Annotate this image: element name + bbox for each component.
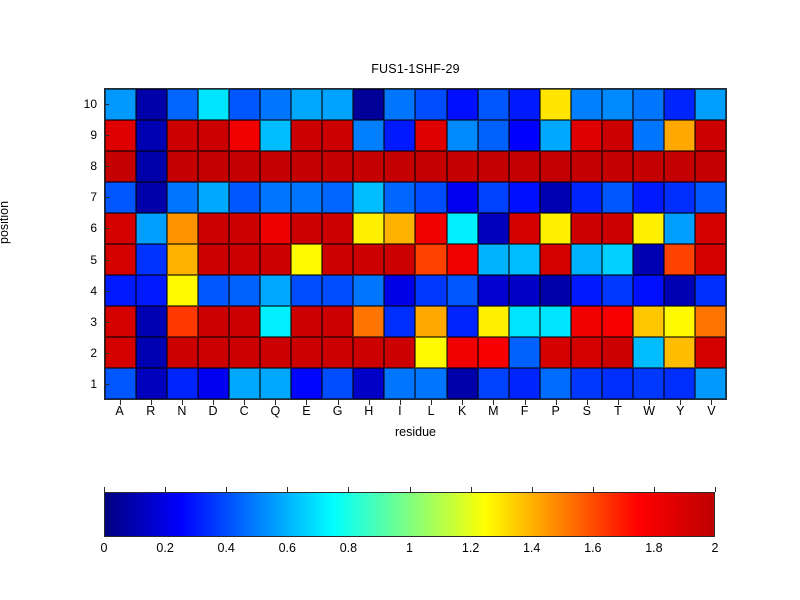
heatmap-cell — [695, 151, 726, 182]
heatmap-cell — [447, 182, 478, 213]
x-tick-mark — [587, 400, 588, 405]
heatmap-cell — [602, 275, 633, 306]
heatmap-cell — [353, 337, 384, 368]
heatmap-cell — [353, 182, 384, 213]
heatmap-cell — [415, 182, 446, 213]
heatmap-cell — [322, 120, 353, 151]
heatmap-cell — [509, 213, 540, 244]
heatmap-cell — [571, 182, 602, 213]
colorbar-tick-mark — [348, 487, 349, 492]
heatmap-cell — [105, 275, 136, 306]
heatmap-cell — [384, 213, 415, 244]
heatmap-cell — [229, 306, 260, 337]
heatmap-cell — [384, 306, 415, 337]
heatmap-cell — [664, 368, 695, 399]
y-tick-label: 6 — [57, 221, 97, 235]
heatmap-cell — [260, 213, 291, 244]
heatmap-cell — [322, 337, 353, 368]
heatmap-cell — [695, 89, 726, 120]
heatmap-cell — [198, 368, 229, 399]
heatmap-cell — [602, 151, 633, 182]
colorbar-tick-label: 0.2 — [140, 541, 190, 555]
heatmap-plot-area — [104, 88, 727, 400]
heatmap-cell — [415, 337, 446, 368]
heatmap-cell — [322, 182, 353, 213]
colorbar-tick-mark — [532, 487, 533, 492]
heatmap-cell — [167, 89, 198, 120]
heatmap-cell — [571, 120, 602, 151]
heatmap-cell — [602, 89, 633, 120]
heatmap-cell-grid — [105, 89, 726, 399]
heatmap-cell — [105, 368, 136, 399]
y-tick-mark — [104, 104, 109, 105]
heatmap-cell — [229, 89, 260, 120]
heatmap-cell — [353, 368, 384, 399]
heatmap-cell — [291, 306, 322, 337]
heatmap-cell — [353, 213, 384, 244]
heatmap-cell — [540, 151, 571, 182]
heatmap-cell — [322, 89, 353, 120]
heatmap-cell — [478, 151, 509, 182]
heatmap-cell — [415, 151, 446, 182]
heatmap-cell — [198, 151, 229, 182]
heatmap-cell — [198, 89, 229, 120]
heatmap-cell — [291, 213, 322, 244]
heatmap-cell — [167, 182, 198, 213]
heatmap-cell — [291, 89, 322, 120]
heatmap-cell — [664, 275, 695, 306]
heatmap-cell — [105, 306, 136, 337]
heatmap-cell — [198, 244, 229, 275]
heatmap-cell — [540, 306, 571, 337]
colorbar-tick-mark — [715, 487, 716, 492]
heatmap-cell — [260, 151, 291, 182]
colorbar-tick-label: 0.8 — [323, 541, 373, 555]
heatmap-cell — [633, 213, 664, 244]
y-tick-label: 3 — [57, 315, 97, 329]
heatmap-cell — [540, 337, 571, 368]
heatmap-cell — [509, 151, 540, 182]
heatmap-cell — [447, 337, 478, 368]
colorbar-tick-label: 1.8 — [629, 541, 679, 555]
heatmap-cell — [540, 244, 571, 275]
heatmap-cell — [447, 89, 478, 120]
heatmap-cell — [229, 213, 260, 244]
heatmap-cell — [260, 306, 291, 337]
heatmap-cell — [571, 151, 602, 182]
y-tick-mark — [104, 135, 109, 136]
heatmap-cell — [198, 182, 229, 213]
y-axis-label: position — [0, 201, 11, 244]
heatmap-cell — [136, 368, 167, 399]
heatmap-cell — [633, 368, 664, 399]
heatmap-cell — [322, 213, 353, 244]
y-tick-label: 2 — [57, 346, 97, 360]
heatmap-cell — [198, 306, 229, 337]
heatmap-cell — [229, 151, 260, 182]
heatmap-cell — [260, 368, 291, 399]
heatmap-cell — [602, 182, 633, 213]
y-tick-mark — [104, 322, 109, 323]
heatmap-cell — [447, 275, 478, 306]
heatmap-cell — [695, 120, 726, 151]
heatmap-cell — [602, 306, 633, 337]
heatmap-cell — [478, 213, 509, 244]
heatmap-cell — [353, 244, 384, 275]
heatmap-cell — [353, 89, 384, 120]
heatmap-cell — [664, 151, 695, 182]
heatmap-cell — [260, 244, 291, 275]
heatmap-cell — [229, 120, 260, 151]
heatmap-cell — [509, 306, 540, 337]
heatmap-cell — [291, 151, 322, 182]
y-tick-label: 5 — [57, 253, 97, 267]
heatmap-cell — [198, 120, 229, 151]
heatmap-cell — [136, 213, 167, 244]
heatmap-cell — [509, 120, 540, 151]
x-tick-mark — [244, 400, 245, 405]
heatmap-cell — [509, 337, 540, 368]
heatmap-cell — [291, 182, 322, 213]
colorbar-tick-label: 0.6 — [262, 541, 312, 555]
heatmap-cell — [229, 275, 260, 306]
y-tick-label: 9 — [57, 128, 97, 142]
colorbar-tick-label: 0 — [79, 541, 129, 555]
heatmap-cell — [105, 213, 136, 244]
heatmap-cell — [167, 275, 198, 306]
page-title: FUS1-1SHF-29 — [104, 62, 727, 76]
heatmap-cell — [602, 120, 633, 151]
x-tick-mark — [151, 400, 152, 405]
heatmap-cell — [695, 182, 726, 213]
colorbar-tick-mark — [165, 487, 166, 492]
heatmap-cell — [260, 182, 291, 213]
heatmap-cell — [167, 368, 198, 399]
heatmap-cell — [664, 306, 695, 337]
heatmap-cell — [260, 89, 291, 120]
heatmap-cell — [633, 275, 664, 306]
heatmap-cell — [105, 89, 136, 120]
heatmap-cell — [571, 275, 602, 306]
colorbar-gradient — [105, 493, 714, 536]
heatmap-cell — [571, 306, 602, 337]
heatmap-cell — [353, 275, 384, 306]
x-tick-mark — [275, 400, 276, 405]
heatmap-cell — [384, 182, 415, 213]
heatmap-cell — [260, 120, 291, 151]
heatmap-cell — [384, 337, 415, 368]
colorbar-tick-mark — [410, 487, 411, 492]
heatmap-cell — [415, 306, 446, 337]
heatmap-cell — [509, 244, 540, 275]
heatmap-cell — [415, 244, 446, 275]
heatmap-cell — [633, 182, 664, 213]
heatmap-cell — [105, 120, 136, 151]
heatmap-cell — [322, 275, 353, 306]
heatmap-cell — [229, 368, 260, 399]
heatmap-cell — [229, 182, 260, 213]
heatmap-cell — [509, 368, 540, 399]
heatmap-cell — [602, 368, 633, 399]
heatmap-cell — [478, 368, 509, 399]
heatmap-cell — [384, 368, 415, 399]
heatmap-cell — [478, 306, 509, 337]
heatmap-cell — [415, 213, 446, 244]
colorbar-tick-mark — [471, 487, 472, 492]
heatmap-cell — [291, 120, 322, 151]
y-tick-label: 10 — [57, 97, 97, 111]
heatmap-cell — [136, 151, 167, 182]
x-tick-mark — [213, 400, 214, 405]
heatmap-cell — [447, 306, 478, 337]
heatmap-cell — [136, 244, 167, 275]
heatmap-cell — [415, 89, 446, 120]
figure-canvas: FUS1-1SHF-29 position 10987654321 ARNDCQ… — [0, 0, 800, 600]
x-tick-mark — [431, 400, 432, 405]
heatmap-cell — [136, 337, 167, 368]
heatmap-cell — [447, 213, 478, 244]
heatmap-cell — [664, 244, 695, 275]
x-tick-mark — [120, 400, 121, 405]
heatmap-cell — [664, 120, 695, 151]
heatmap-cell — [136, 275, 167, 306]
heatmap-cell — [478, 275, 509, 306]
heatmap-cell — [167, 213, 198, 244]
heatmap-cell — [478, 89, 509, 120]
colorbar-tick-label: 1.6 — [568, 541, 618, 555]
heatmap-cell — [540, 182, 571, 213]
heatmap-cell — [509, 182, 540, 213]
heatmap-cell — [633, 120, 664, 151]
heatmap-cell — [415, 120, 446, 151]
heatmap-cell — [291, 244, 322, 275]
heatmap-cell — [447, 244, 478, 275]
heatmap-cell — [540, 275, 571, 306]
heatmap-cell — [664, 337, 695, 368]
heatmap-cell — [695, 275, 726, 306]
colorbar-tick-mark — [654, 487, 655, 492]
heatmap-cell — [384, 151, 415, 182]
heatmap-cell — [540, 213, 571, 244]
heatmap-cell — [229, 244, 260, 275]
heatmap-cell — [633, 306, 664, 337]
heatmap-cell — [105, 244, 136, 275]
heatmap-cell — [447, 151, 478, 182]
heatmap-cell — [322, 151, 353, 182]
heatmap-cell — [384, 120, 415, 151]
heatmap-cell — [167, 337, 198, 368]
heatmap-cell — [664, 182, 695, 213]
heatmap-cell — [664, 213, 695, 244]
x-tick-mark — [338, 400, 339, 405]
y-tick-mark — [104, 260, 109, 261]
heatmap-cell — [695, 213, 726, 244]
heatmap-cell — [198, 337, 229, 368]
heatmap-cell — [260, 337, 291, 368]
heatmap-cell — [167, 120, 198, 151]
heatmap-cell — [105, 337, 136, 368]
heatmap-cell — [415, 275, 446, 306]
colorbar-tick-mark — [287, 487, 288, 492]
heatmap-cell — [571, 337, 602, 368]
heatmap-cell — [198, 213, 229, 244]
heatmap-cell — [478, 120, 509, 151]
colorbar-tick-mark — [593, 487, 594, 492]
heatmap-cell — [384, 89, 415, 120]
heatmap-cell — [136, 120, 167, 151]
x-tick-mark — [182, 400, 183, 405]
heatmap-cell — [167, 244, 198, 275]
x-tick-mark — [493, 400, 494, 405]
heatmap-cell — [478, 182, 509, 213]
heatmap-cell — [478, 337, 509, 368]
heatmap-cell — [447, 120, 478, 151]
x-tick-mark — [618, 400, 619, 405]
heatmap-cell — [322, 306, 353, 337]
heatmap-cell — [664, 89, 695, 120]
y-tick-mark — [104, 197, 109, 198]
x-tick-mark — [711, 400, 712, 405]
y-tick-label: 7 — [57, 190, 97, 204]
heatmap-cell — [136, 306, 167, 337]
x-tick-mark — [680, 400, 681, 405]
heatmap-cell — [322, 244, 353, 275]
heatmap-cell — [695, 368, 726, 399]
heatmap-cell — [602, 213, 633, 244]
heatmap-cell — [136, 89, 167, 120]
y-tick-mark — [104, 166, 109, 167]
heatmap-cell — [384, 244, 415, 275]
heatmap-cell — [695, 306, 726, 337]
heatmap-cell — [260, 275, 291, 306]
x-tick-mark — [306, 400, 307, 405]
x-tick-mark — [400, 400, 401, 405]
heatmap-cell — [571, 368, 602, 399]
colorbar-tick-label: 1 — [385, 541, 435, 555]
y-tick-label: 4 — [57, 284, 97, 298]
colorbar-tick-mark — [226, 487, 227, 492]
y-tick-label: 8 — [57, 159, 97, 173]
x-tick-mark — [369, 400, 370, 405]
y-tick-mark — [104, 384, 109, 385]
colorbar-tick-mark — [104, 487, 105, 492]
heatmap-cell — [353, 306, 384, 337]
heatmap-cell — [571, 89, 602, 120]
heatmap-cell — [633, 151, 664, 182]
heatmap-cell — [633, 89, 664, 120]
heatmap-cell — [447, 368, 478, 399]
x-tick-mark — [556, 400, 557, 405]
x-tick-label: V — [691, 404, 731, 418]
heatmap-cell — [105, 151, 136, 182]
heatmap-cell — [509, 275, 540, 306]
x-tick-mark — [649, 400, 650, 405]
y-tick-mark — [104, 228, 109, 229]
y-tick-mark — [104, 291, 109, 292]
heatmap-cell — [540, 120, 571, 151]
heatmap-cell — [540, 89, 571, 120]
x-tick-mark — [462, 400, 463, 405]
heatmap-cell — [167, 306, 198, 337]
heatmap-cell — [509, 89, 540, 120]
heatmap-cell — [291, 275, 322, 306]
heatmap-cell — [322, 368, 353, 399]
heatmap-cell — [633, 244, 664, 275]
colorbar — [104, 492, 715, 537]
heatmap-cell — [353, 120, 384, 151]
heatmap-cell — [633, 337, 664, 368]
heatmap-cell — [229, 337, 260, 368]
heatmap-cell — [571, 213, 602, 244]
heatmap-cell — [695, 337, 726, 368]
heatmap-cell — [136, 182, 167, 213]
colorbar-tick-label: 2 — [690, 541, 740, 555]
heatmap-cell — [198, 275, 229, 306]
heatmap-cell — [353, 151, 384, 182]
colorbar-tick-label: 0.4 — [201, 541, 251, 555]
heatmap-cell — [167, 151, 198, 182]
heatmap-cell — [571, 244, 602, 275]
colorbar-tick-label: 1.2 — [446, 541, 496, 555]
x-tick-mark — [525, 400, 526, 405]
heatmap-cell — [291, 337, 322, 368]
y-tick-label: 1 — [57, 377, 97, 391]
heatmap-cell — [478, 244, 509, 275]
heatmap-cell — [602, 337, 633, 368]
heatmap-cell — [602, 244, 633, 275]
heatmap-cell — [415, 368, 446, 399]
colorbar-tick-label: 1.4 — [507, 541, 557, 555]
x-axis-label: residue — [104, 425, 727, 439]
heatmap-cell — [291, 368, 322, 399]
heatmap-cell — [695, 244, 726, 275]
heatmap-cell — [384, 275, 415, 306]
heatmap-cell — [540, 368, 571, 399]
y-tick-mark — [104, 353, 109, 354]
heatmap-cell — [105, 182, 136, 213]
